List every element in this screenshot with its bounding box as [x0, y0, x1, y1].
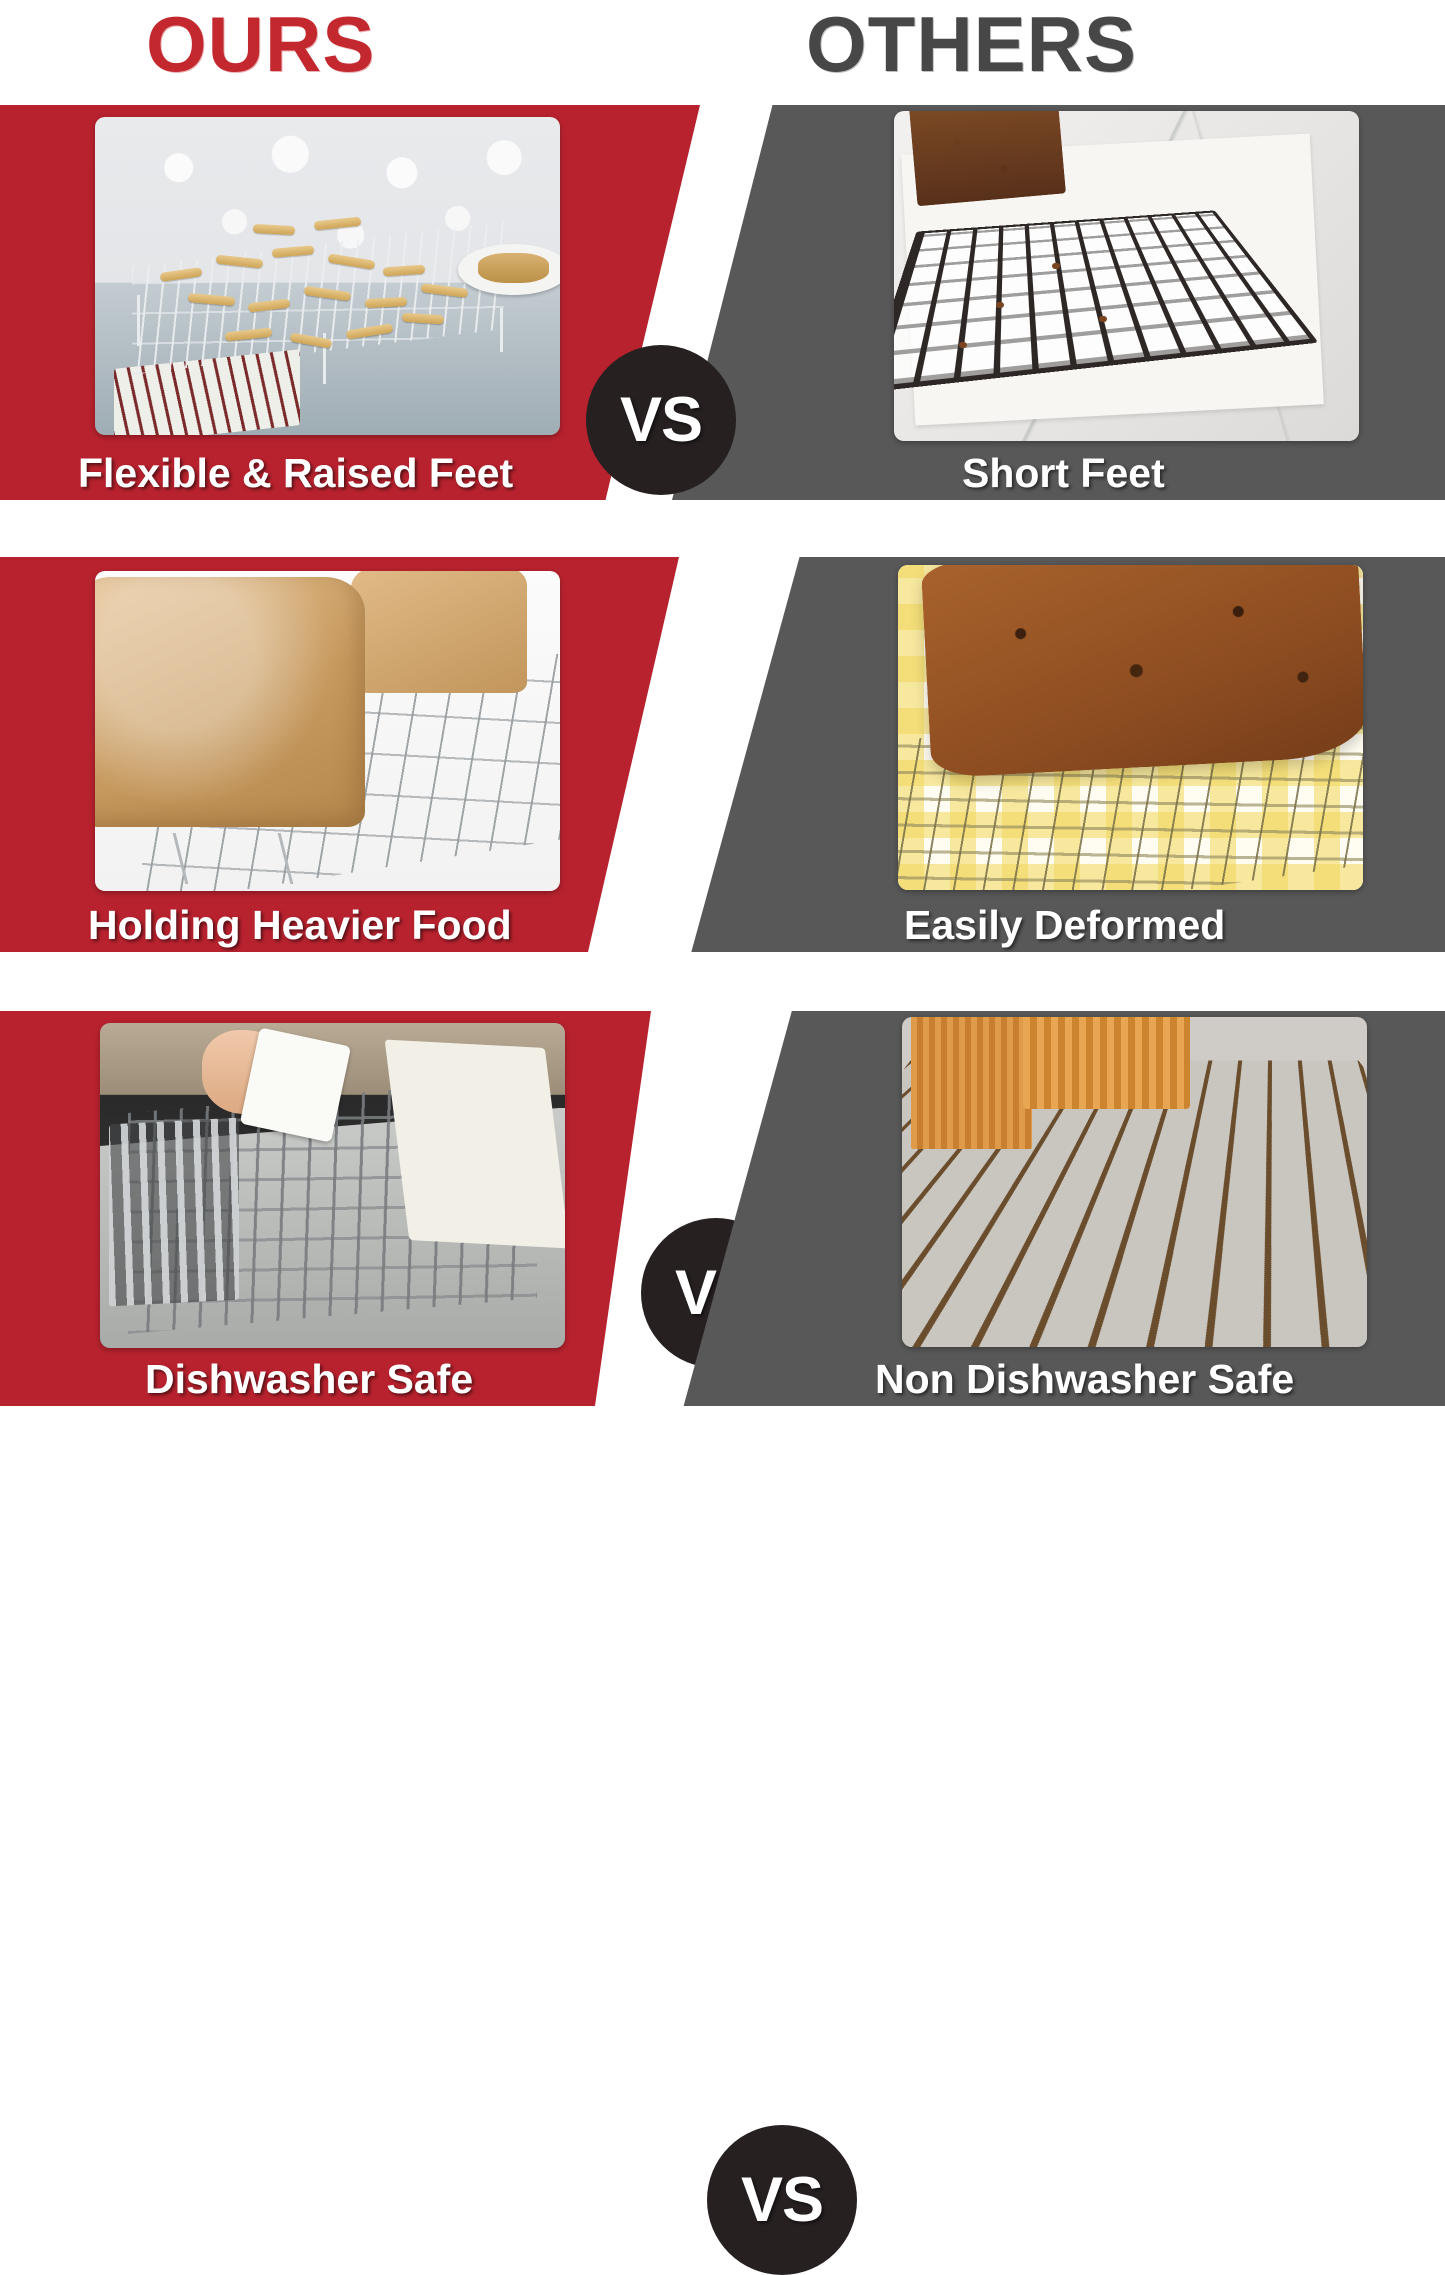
crumb	[1052, 263, 1060, 269]
others-heading: OTHERS	[806, 0, 1137, 92]
bread-on-rack-image	[95, 571, 560, 891]
white-dish	[240, 1027, 351, 1142]
vs-badge-1: VS	[586, 345, 736, 495]
rusty-mesh-image	[902, 1017, 1367, 1347]
fruit-loaf-wavy-rack-image	[898, 565, 1363, 890]
others-photo-1	[894, 111, 1359, 441]
dark-rack-parchment-image	[894, 111, 1359, 441]
ours-photo-3	[100, 1023, 565, 1348]
others-caption-1: Short Feet	[962, 453, 1165, 494]
others-caption-3: Non Dishwasher Safe	[875, 1359, 1294, 1400]
others-panel-3-background: Non Dishwasher Safe	[672, 1011, 1445, 1406]
comparison-row-2: Holding Heavier Food Easily Deformed VS	[0, 557, 1445, 952]
crumb	[1099, 316, 1107, 322]
others-photo-3	[902, 1017, 1367, 1347]
bread-loaf-front	[95, 577, 365, 827]
treat-plate	[458, 244, 560, 295]
muffin	[1023, 1017, 1190, 1109]
rack-leg	[500, 308, 503, 353]
rack-foot	[172, 833, 293, 884]
others-panel-3: Non Dishwasher Safe	[672, 1011, 1445, 1406]
others-panel-2-background: Easily Deformed	[672, 557, 1445, 952]
ours-caption-1: Flexible & Raised Feet	[78, 453, 513, 494]
muffin	[911, 1017, 1032, 1149]
ours-photo-2	[95, 571, 560, 891]
comparison-row-3: Dishwasher Safe Non Dishwasher Safe VS	[0, 1011, 1445, 1406]
bread-loaf-back	[351, 571, 528, 693]
others-caption-2: Easily Deformed	[904, 905, 1225, 946]
chocolate-loaf	[909, 111, 1066, 206]
ours-caption-3: Dishwasher Safe	[145, 1359, 473, 1400]
rack-leg	[137, 295, 140, 346]
others-panel-2: Easily Deformed	[672, 557, 1445, 952]
others-photo-2	[898, 565, 1363, 890]
comparison-row-1: Flexible & Raised Feet Short Feet VS	[0, 105, 1445, 500]
ours-panel-3-background: Dishwasher Safe	[0, 1011, 700, 1406]
cutlery-holder	[109, 1117, 239, 1306]
ours-panel-3: Dishwasher Safe	[0, 1011, 700, 1406]
ours-heading: OURS	[146, 0, 375, 92]
ours-panel-2: Holding Heavier Food	[0, 557, 700, 952]
cooling-rack-treats-image	[95, 117, 560, 435]
ours-photo-1	[95, 117, 560, 435]
others-panel-1: Short Feet	[672, 105, 1445, 500]
ours-caption-2: Holding Heavier Food	[88, 905, 512, 946]
vs-badge-3: VS	[707, 2125, 857, 2275]
crumb	[959, 342, 967, 348]
others-panel-1-background: Short Feet	[672, 105, 1445, 500]
ours-panel-2-background: Holding Heavier Food	[0, 557, 700, 952]
dishwasher-image	[100, 1023, 565, 1348]
white-tray	[384, 1039, 565, 1247]
fruit-loaf	[921, 565, 1363, 778]
comparison-header: OURS OTHERS	[0, 0, 1445, 96]
